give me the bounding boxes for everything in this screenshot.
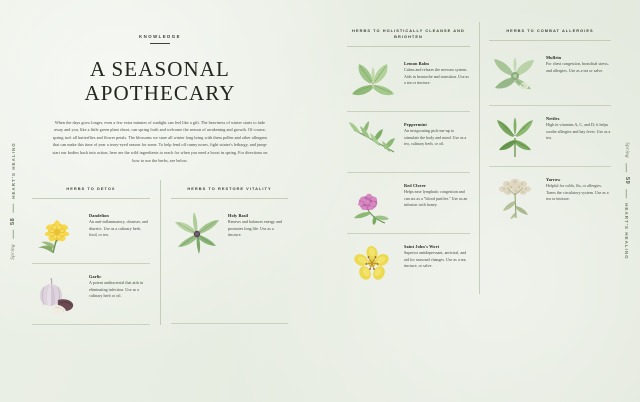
herb-description: Renews and balances energy and promotes … [228,219,288,238]
herb-name: Nettles [546,116,611,121]
herb-entry-red-clover: Red Clover Helps ease lymphatic congesti… [347,172,470,233]
page-title: A SEASONAL APOTHECARY [48,57,272,106]
herb-name: Garlic [89,274,150,279]
herb-text: Yarrow Helpful for colds, flu, or allerg… [546,174,611,203]
quadrant-herbs-to-restore-vitality: HERBS TO RESTORE VITALITY [160,180,298,325]
folio-divider [13,230,14,239]
herb-name: Peppermint [404,122,470,127]
herb-entry-yarrow: Yarrow Helpful for colds, flu, or allerg… [489,166,611,227]
quadrant-heading: HERBS TO COMBAT ALLERGIES [489,22,611,40]
herb-text: Red Clover Helps ease lymphatic congesti… [404,180,470,209]
book-spread: Spring 58 HEART'S HEALING KNOWLEDGE A SE… [0,0,640,402]
eyebrow-rule [150,43,170,44]
herb-description: Helps ease lymphatic congestion and can … [404,189,470,208]
lemon-balm-illustration [347,58,399,104]
right-page: Spring 59 HEART'S HEALING HERBS TO HOLIS… [320,0,640,402]
heading-rule [32,198,150,199]
herb-description: A potent antibacterial that aids in elim… [89,280,150,299]
folio-page-number: 59 [624,177,630,184]
herb-name: Yarrow [546,177,611,182]
left-page: Spring 58 HEART'S HEALING KNOWLEDGE A SE… [0,0,320,402]
yarrow-illustration [489,174,541,220]
saint-johns-wort-illustration [347,241,399,287]
herb-entry-lemon-balm: Lemon Balm Calms and relaxes the nervous… [347,51,470,111]
herb-entry-peppermint: Peppermint An invigorating pick-me-up to… [347,111,470,172]
herb-name: Saint John's Wort [404,244,470,249]
herb-text: Lemon Balm Calms and relaxes the nervous… [404,58,470,87]
eyebrow-wrap: KNOWLEDGE [48,34,272,57]
herb-entry-holy-basil: Holy Basil Renews and balances energy an… [171,203,288,263]
quadrant-heading: HERBS TO HOLISTICALLY CLEANSE AND BRIGHT… [347,22,470,46]
quadrant-empty-slot [171,263,288,323]
herb-description: For chest congestion, bronchial stress, … [546,61,611,74]
herb-text: Mullein For chest congestion, bronchial … [546,52,611,74]
herb-name: Mullein [546,55,611,60]
herb-text: Holy Basil Renews and balances energy an… [228,210,288,239]
left-herb-grid: HERBS TO DETOX [0,180,320,325]
intro-paragraph: When the days grow longer, even a few ex… [48,119,272,164]
folio-divider [627,189,628,198]
red-clover-illustration [347,180,399,226]
herb-text: Nettles High in vitamins A, C, and D; it… [546,113,611,142]
quadrant-bottom-rule [171,323,288,324]
page-title-line-2: APOTHECARY [84,81,235,105]
herb-text: Saint John's Wort Superior antidepressan… [404,241,470,270]
page-title-line-1: A SEASONAL [90,57,230,81]
herb-description: An anti-inflammatory, cleanser, and diur… [89,219,150,238]
herb-description: Helpful for colds, flu, or allergies. To… [546,183,611,202]
herb-text: Garlic A potent antibacterial that aids … [89,271,150,300]
right-herb-grid: HERBS TO HOLISTICALLY CLEANSE AND BRIGHT… [320,0,640,294]
heading-rule [171,198,288,199]
quadrant-empty-slot [489,227,611,287]
quadrant-heading: HERBS TO DETOX [32,180,150,198]
quadrant-heading: HERBS TO RESTORE VITALITY [171,180,288,198]
right-page-folio: Spring 59 HEART'S HEALING [614,0,640,402]
intro-block: KNOWLEDGE A SEASONAL APOTHECARY When the… [0,0,320,164]
quadrant-bottom-rule [32,324,150,325]
mullein-illustration [489,52,541,98]
herb-entry-garlic: Garlic A potent antibacterial that aids … [32,263,150,324]
heading-rule [489,40,611,41]
quadrant-herbs-to-combat-allergies: HERBS TO COMBAT ALLERGIES [479,22,620,294]
herb-entry-dandelion: Dandelion An anti-inflammatory, cleanser… [32,203,150,263]
herb-description: Superior antidepressant, antiviral, and … [404,250,470,269]
folio-book-title: HEART'S HEALING [625,203,630,260]
quadrant-herbs-to-cleanse-and-brighten: HERBS TO HOLISTICALLY CLEANSE AND BRIGHT… [338,22,479,294]
peppermint-illustration [347,119,399,165]
herb-name: Holy Basil [228,213,288,218]
quadrant-herbs-to-detox: HERBS TO DETOX [22,180,160,325]
garlic-illustration [32,271,84,317]
herb-description: High in vitamins A, C, and D; it helps s… [546,122,611,141]
herb-text: Dandelion An anti-inflammatory, cleanser… [89,210,150,239]
folio-divider [13,204,14,213]
folio-section-label: Spring [625,142,630,158]
dandelion-illustration [32,210,84,256]
herb-name: Lemon Balm [404,61,470,66]
heading-rule [347,46,470,47]
herb-description: Calms and relaxes the nervous system. Ai… [404,67,470,86]
herb-name: Red Clover [404,183,470,188]
herb-text: Peppermint An invigorating pick-me-up to… [404,119,470,148]
herb-description: An invigorating pick-me-up to stimulate … [404,128,470,147]
herb-entry-mullein: Mullein For chest congestion, bronchial … [489,45,611,105]
folio-book-title: HEART'S HEALING [11,142,16,199]
herb-entry-saint-johns-wort: Saint John's Wort Superior antidepressan… [347,233,470,294]
section-eyebrow: KNOWLEDGE [139,34,181,43]
herb-entry-nettles: Nettles High in vitamins A, C, and D; it… [489,105,611,166]
folio-section-label: Spring [11,244,16,260]
nettles-illustration [489,113,541,159]
folio-page-number: 58 [10,218,16,225]
herb-name: Dandelion [89,213,150,218]
folio-divider [627,163,628,172]
holy-basil-illustration [171,210,223,256]
left-page-folio: Spring 58 HEART'S HEALING [0,0,26,402]
